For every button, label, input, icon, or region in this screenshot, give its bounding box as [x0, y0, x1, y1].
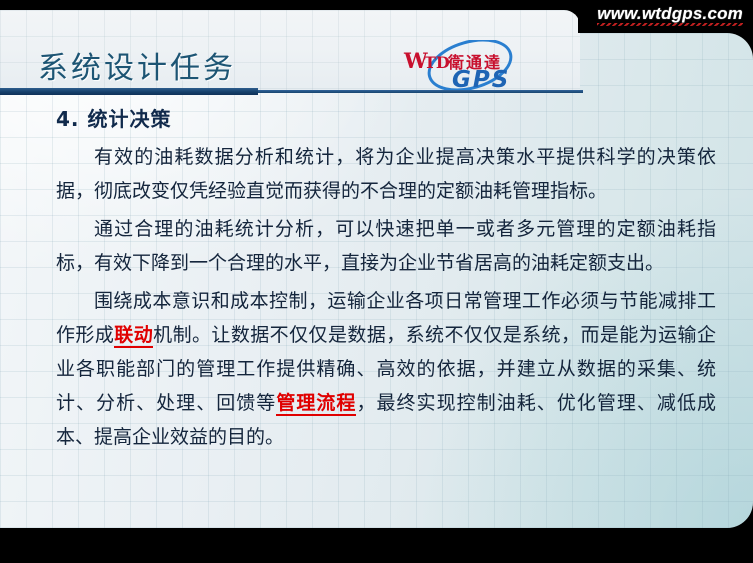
- highlighted-term: 管理流程: [276, 392, 356, 416]
- body-text-run: 通过合理的油耗统计分析，可以快速把单一或者多元管理的定额油耗指标，有效下降到一个…: [56, 218, 716, 274]
- title-divider-thick: [0, 88, 258, 95]
- slide-body-text: 有效的油耗数据分析和统计，将为企业提高决策水平提供科学的决策依据，彻底改变仅凭经…: [56, 140, 716, 458]
- section-heading: 4. 统计决策: [56, 103, 171, 132]
- body-paragraph: 通过合理的油耗统计分析，可以快速把单一或者多元管理的定额油耗指标，有效下降到一个…: [56, 212, 716, 280]
- svg-text:TD: TD: [424, 53, 450, 72]
- body-paragraph: 有效的油耗数据分析和统计，将为企业提高决策水平提供科学的决策依据，彻底改变仅凭经…: [56, 140, 716, 208]
- presentation-slide: www.wtdgps.com 系统设计任务 W TD 衛通達 GPS 4. 统计…: [0, 0, 753, 563]
- body-paragraph: 围绕成本意识和成本控制，运输企业各项日常管理工作必须与节能减排工作形成联动机制。…: [56, 284, 716, 454]
- body-text-run: 有效的油耗数据分析和统计，将为企业提高决策水平提供科学的决策依据，彻底改变仅凭经…: [56, 146, 716, 202]
- website-watermark: www.wtdgps.com: [597, 4, 743, 26]
- slide-title: 系统设计任务: [38, 43, 236, 87]
- highlighted-term: 联动: [114, 324, 153, 348]
- wtd-gps-logo: W TD 衛通達 GPS: [398, 40, 543, 90]
- title-divider-thin: [258, 90, 583, 93]
- bottom-black-band: [0, 528, 753, 563]
- svg-text:GPS: GPS: [452, 67, 510, 90]
